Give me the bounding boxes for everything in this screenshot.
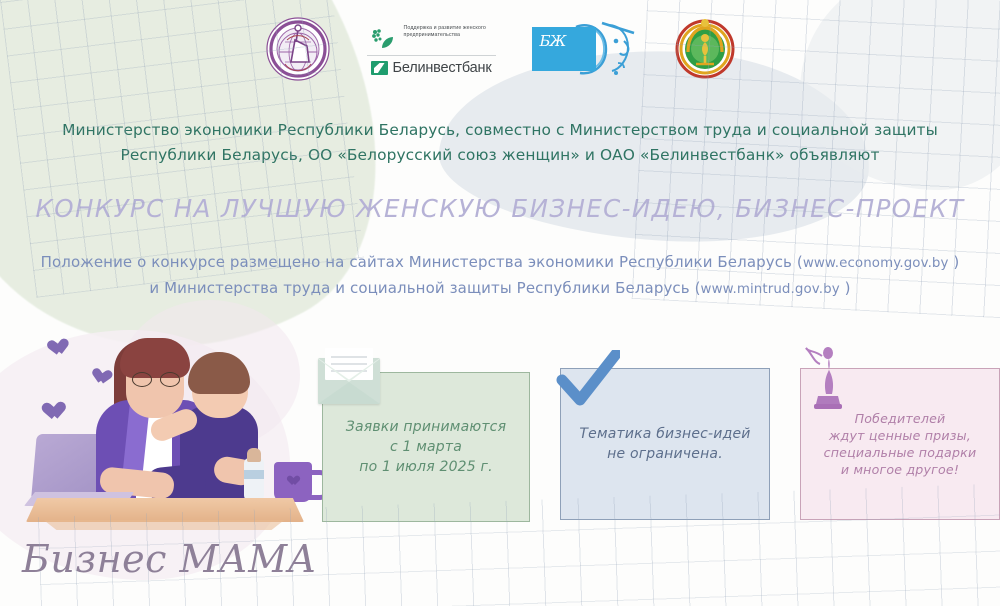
ministry-economy-emblem-icon: [265, 16, 331, 82]
checkmark-icon: [556, 350, 620, 412]
regulation-line-1-text: Положение о конкурсе размещено на сайтах…: [41, 253, 803, 271]
card-topics-text: Тематика бизнес-идей не ограничена.: [579, 424, 750, 464]
belinvestbank-mark-icon: [371, 61, 388, 75]
ministry-labour-emblem-icon: [674, 18, 736, 80]
baby-hair: [188, 352, 250, 394]
envelope-letter: [325, 348, 373, 380]
logo-row: Поддержка и развитие женского предприним…: [0, 6, 1000, 92]
envelope-icon: [318, 358, 380, 404]
card-prizes-text: Победителей ждут ценные призы, специальн…: [824, 410, 977, 478]
working-mother-illustration: [8, 330, 318, 545]
mug-heart-icon: [289, 476, 301, 487]
belinvestbank-slogan: Поддержка и развитие женского предприним…: [404, 22, 496, 39]
brandmark-title: Бизнес МАМА: [22, 537, 317, 581]
bsj-monogram: БЖ: [540, 35, 566, 48]
ministry-economy-logo: [265, 16, 331, 82]
card-dates-text: Заявки принимаются с 1 марта по 1 июля 2…: [346, 417, 506, 477]
heart-icon: [51, 338, 72, 357]
card-prizes-line-2: ждут ценные призы,: [824, 427, 977, 444]
page-title: КОНКУРС НА ЛУЧШУЮ ЖЕНСКУЮ БИЗНЕС-ИДЕЮ, Б…: [0, 194, 1000, 223]
poster-canvas: Поддержка и развитие женского предприним…: [0, 0, 1000, 606]
belinvestbank-logo: Поддержка и развитие женского предприним…: [367, 22, 496, 76]
card-dates-line-3: по 1 июля 2025 г.: [346, 457, 506, 477]
card-dates-line-2: с 1 марта: [346, 437, 506, 457]
envelope-letter-line: [331, 356, 367, 358]
economy-website-link[interactable]: www.economy.gov.by: [803, 256, 949, 271]
card-dates-line-1: Заявки принимаются: [346, 417, 506, 437]
regulation-line-2-text: и Министерства труда и социальной защиты…: [149, 279, 700, 297]
regulation-line-1-close: ): [949, 253, 960, 271]
desk-edge: [36, 520, 292, 530]
baby-bottle-cap: [247, 448, 261, 462]
heart-icon: [46, 402, 68, 422]
baby-bottle-icon: [244, 458, 264, 502]
regulation-line-2-close: ): [840, 279, 851, 297]
heart-icon: [94, 369, 114, 388]
bsj-flag-icon: БЖ: [532, 27, 596, 71]
glasses-icon: [132, 372, 180, 385]
belarusian-union-of-women-logo: БЖ: [532, 19, 638, 79]
trophy-icon: [800, 346, 856, 416]
belinvestbank-name: Белинвестбанк: [393, 60, 492, 76]
ministry-labour-logo: [674, 18, 736, 80]
intro-line-1: Министерство экономики Республики Белару…: [0, 118, 1000, 143]
woman-profile-grapes-icon: [367, 22, 397, 52]
baby-bottle-band: [244, 470, 264, 479]
envelope-letter-line: [331, 363, 367, 365]
regulation-paragraph: Положение о конкурсе размещено на сайтах…: [0, 250, 1000, 302]
desk-surface: [26, 498, 304, 522]
regulation-line-1: Положение о конкурсе размещено на сайтах…: [0, 250, 1000, 276]
regulation-line-2: и Министерства труда и социальной защиты…: [0, 276, 1000, 302]
card-topics-line-2: не ограничена.: [579, 444, 750, 464]
intro-line-2: Республики Беларусь, ОО «Белорусский сою…: [0, 143, 1000, 168]
belinvestbank-divider: [367, 55, 496, 56]
intro-paragraph: Министерство экономики Республики Белару…: [0, 118, 1000, 168]
card-prizes-line-3: специальные подарки: [824, 444, 977, 461]
card-topics-line-1: Тематика бизнес-идей: [579, 424, 750, 444]
card-prizes-line-4: и многое другое!: [824, 461, 977, 478]
mintrud-website-link[interactable]: www.mintrud.gov.by: [701, 282, 840, 297]
